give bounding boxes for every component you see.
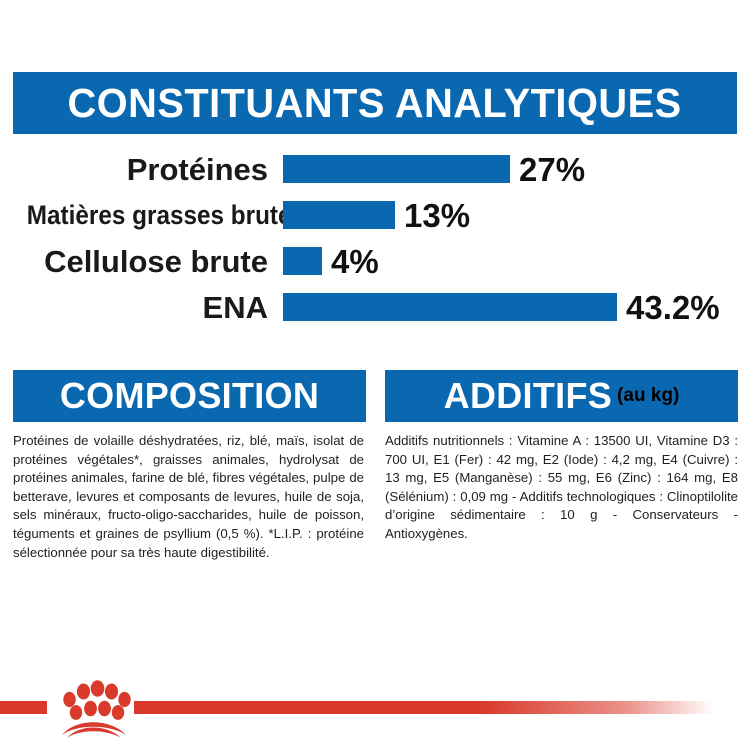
bar-ena	[283, 293, 617, 321]
bar-value-ena: 43.2%	[626, 291, 720, 324]
bar-track: 4%	[268, 238, 750, 284]
bar-track: 43.2%	[268, 284, 750, 330]
analytical-constituents-header-band: CONSTITUANTS ANALYTIQUES	[13, 72, 737, 134]
nutrient-label-proteines: Protéines	[0, 154, 268, 185]
additifs-title: ADDITIFS	[444, 378, 612, 414]
bar-value-matieres-grasses-brutes: 13%	[404, 199, 470, 232]
composition-title: COMPOSITION	[60, 378, 319, 414]
additifs-panel: ADDITIFS (au kg) Additifs nutritionnels …	[385, 370, 738, 562]
chart-row: Cellulose brute 4%	[0, 238, 750, 284]
nutrient-bar-chart: Protéines 27% Matières grasses brutes 13…	[0, 146, 750, 330]
composition-header-band: COMPOSITION	[13, 370, 366, 422]
detail-panels: COMPOSITION Protéines de volaille déshyd…	[0, 370, 750, 562]
additifs-body-text: Additifs nutritionnels : Vitamine A : 13…	[385, 422, 738, 544]
footer-rule-left	[0, 701, 47, 714]
additifs-header-band: ADDITIFS (au kg)	[385, 370, 738, 422]
nutrient-label-ena: ENA	[0, 292, 268, 323]
bar-proteines	[283, 155, 510, 183]
bar-value-cellulose-brute: 4%	[331, 245, 379, 278]
nutrient-label-cellulose-brute: Cellulose brute	[0, 246, 268, 277]
chart-row: ENA 43.2%	[0, 284, 750, 330]
composition-panel: COMPOSITION Protéines de volaille déshyd…	[13, 370, 366, 562]
additifs-title-unit: (au kg)	[617, 385, 679, 407]
footer-rule-right	[134, 701, 714, 714]
bar-matieres-grasses-brutes	[283, 201, 395, 229]
analytical-constituents-title: CONSTITUANTS ANALYTIQUES	[68, 83, 682, 124]
bar-track: 13%	[268, 192, 750, 238]
royal-canin-paw-logo-icon	[52, 676, 134, 738]
analytical-constituents-section: CONSTITUANTS ANALYTIQUES Protéines 27% M…	[0, 0, 750, 352]
bar-track: 27%	[268, 146, 750, 192]
composition-body-text: Protéines de volaille déshydratées, riz,…	[13, 422, 366, 562]
nutrient-label-matieres-grasses-brutes: Matières grasses brutes	[27, 202, 268, 229]
chart-row: Matières grasses brutes 13%	[0, 192, 750, 238]
footer-brand-bar	[0, 676, 750, 750]
bar-value-proteines: 27%	[519, 153, 585, 186]
chart-row: Protéines 27%	[0, 146, 750, 192]
bar-cellulose-brute	[283, 247, 322, 275]
